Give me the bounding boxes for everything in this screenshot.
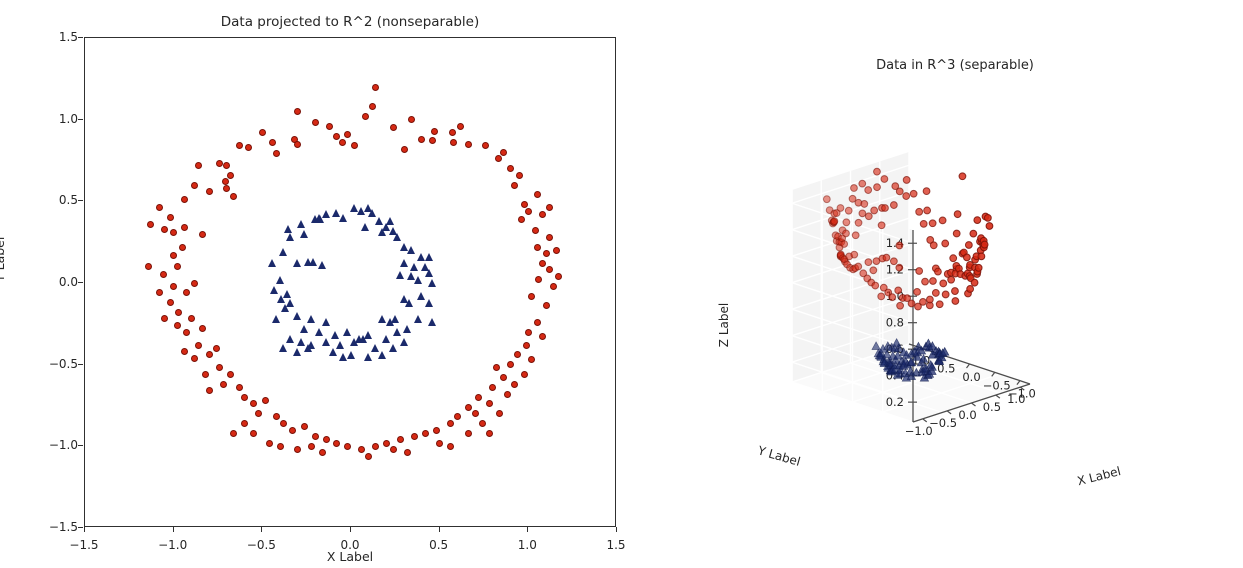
xtick-label: 0.0 [962,370,980,384]
data-point-inner [410,263,418,271]
data-point-inner [368,209,376,217]
data-point-inner [270,286,278,294]
data-point-outer [539,333,546,340]
data-point-outer [525,208,532,215]
data-point-3d-outer [878,222,885,229]
data-point-3d-outer [963,254,970,261]
data-point-outer [528,356,535,363]
data-point-3d-outer [841,241,848,248]
data-point-3d-outer [926,296,933,303]
data-point-outer [227,172,234,179]
data-point-3d-outer [851,251,858,258]
data-point-inner [382,335,390,343]
data-point-outer [202,371,209,378]
data-point-3d-outer [952,288,959,295]
data-point-outer [465,430,472,437]
data-point-3d-outer [843,219,850,226]
data-point-outer [161,226,168,233]
data-point-3d-outer [910,190,917,197]
data-point-outer [489,384,496,391]
ytick-mark [972,403,976,406]
data-point-inner [318,261,326,269]
data-point-outer [479,420,486,427]
data-point-outer [170,283,177,290]
plot-2d-ytick-mark [78,37,83,38]
data-point-outer [167,214,174,221]
data-point-outer [516,172,523,179]
data-point-outer [174,263,181,270]
data-point-outer [383,440,390,447]
data-point-outer [369,103,376,110]
data-point-inner [425,269,433,277]
data-point-inner [322,318,330,326]
data-point-3d-outer [865,213,872,220]
data-point-3d-outer [882,205,889,212]
data-point-3d-outer [922,278,929,285]
data-point-inner [407,246,415,254]
data-point-3d-outer [923,188,930,195]
plot-2d-xtick-mark [439,527,440,532]
plot-2d-ytick-mark [78,527,83,528]
data-point-inner [297,220,305,228]
data-point-outer [183,329,190,336]
data-point-outer [518,216,525,223]
data-point-3d-outer [920,220,927,227]
data-point-inner [293,259,301,267]
data-point-3d-outer [984,214,991,221]
data-point-outer [546,266,553,273]
data-point-inner [315,214,323,222]
data-point-3d-outer [903,193,910,200]
data-point-3d-outer [936,301,943,308]
data-point-outer [546,204,553,211]
plot-2d-ytick: 0.0 [59,275,78,289]
data-point-outer [227,371,234,378]
data-point-inner [304,344,312,352]
plot-3d-ylabel: Y Label [755,443,802,469]
data-point-outer [358,446,365,453]
data-point-3d-outer [845,207,852,214]
data-point-outer [433,427,440,434]
data-point-3d-outer [978,253,985,260]
data-point-3d-outer [974,217,981,224]
data-point-inner [350,204,358,212]
data-point-outer [199,231,206,238]
data-point-3d-outer [874,168,881,175]
data-point-outer [418,136,425,143]
data-point-outer [365,453,372,460]
data-point-3d-outer [935,268,942,275]
data-point-inner [396,271,404,279]
data-point-outer [339,139,346,146]
data-point-3d-outer [852,232,859,239]
data-point-3d-outer [855,263,862,270]
data-point-outer [273,150,280,157]
data-point-outer [195,162,202,169]
data-point-outer [179,244,186,251]
data-point-3d-outer [916,208,923,215]
data-point-inner [389,227,397,235]
data-point-outer [167,299,174,306]
data-point-outer [245,144,252,151]
data-point-outer [191,355,198,362]
plot-2d-ytick-mark [78,282,83,283]
data-point-outer [397,436,404,443]
data-point-3d-outer [890,258,897,265]
data-point-outer [161,315,168,322]
plot-2d-xtick-mark [173,527,174,532]
data-point-inner [293,348,301,356]
data-point-outer [390,446,397,453]
data-point-3d-outer [878,293,885,300]
data-point-outer [294,141,301,148]
data-point-outer [216,160,223,167]
data-point-3d-outer [859,210,866,217]
data-point-outer [312,433,319,440]
plot-3d-canvas: 0.20.40.60.81.01.21.4Z Label−1.0−0.50.00… [700,110,1243,510]
data-point-outer [431,128,438,135]
data-point-outer [447,443,454,450]
data-point-inner [272,315,280,323]
data-point-3d-outer [890,202,897,209]
data-point-outer [535,276,542,283]
data-point-outer [255,410,262,417]
data-point-outer [191,280,198,287]
data-point-3d-outer [914,288,921,295]
data-point-inner [279,248,287,256]
data-point-3d-outer [823,196,830,203]
data-point-outer [236,384,243,391]
figure-canvas: Data projected to R^2 (nonseparable) −1.… [0,0,1243,568]
data-point-3d-outer [895,287,902,294]
data-point-outer [181,196,188,203]
data-point-3d-outer [908,300,915,307]
data-point-outer [289,427,296,434]
data-point-outer [532,227,539,234]
data-point-inner [428,318,436,326]
data-point-outer [534,319,541,326]
data-point-outer [262,397,269,404]
data-point-inner [343,328,351,336]
data-point-outer [160,271,167,278]
data-point-3d-outer [903,177,910,184]
data-point-outer [280,420,287,427]
data-point-3d-outer [930,242,937,249]
data-point-3d-outer [859,180,866,187]
data-point-3d-outer [967,286,974,293]
data-point-inner [339,214,347,222]
data-point-inner [286,233,294,241]
data-point-outer [511,182,518,189]
data-point-3d-outer [959,173,966,180]
data-point-outer [319,449,326,456]
data-point-inner [277,295,285,303]
data-point-outer [250,400,257,407]
data-point-outer [294,446,301,453]
data-point-outer [236,142,243,149]
data-point-outer [450,139,457,146]
data-point-inner [322,338,330,346]
data-point-outer [546,234,553,241]
data-point-inner [350,338,358,346]
data-point-3d-outer [942,291,949,298]
data-point-outer [294,108,301,115]
data-point-outer [514,351,521,358]
data-point-inner [331,331,339,339]
data-point-outer [344,443,351,450]
data-point-outer [308,443,315,450]
data-point-inner [300,230,308,238]
data-point-outer [174,322,181,329]
plot-2d-ytick: 1.5 [59,30,78,44]
data-point-outer [223,162,230,169]
data-point-outer [323,436,330,443]
data-point-outer [312,119,319,126]
data-point-inner [405,299,413,307]
data-point-outer [504,391,511,398]
data-point-3d-outer [897,302,904,309]
data-point-outer [457,123,464,130]
data-point-outer [206,387,213,394]
data-point-outer [147,221,154,228]
data-point-outer [447,420,454,427]
data-point-3d-outer [837,205,844,212]
data-point-outer [534,191,541,198]
data-point-inner [339,353,347,361]
data-point-outer [496,410,503,417]
data-point-outer [411,433,418,440]
data-point-outer [493,364,500,371]
data-point-inner [309,258,317,266]
data-point-inner [281,304,289,312]
data-point-outer [550,283,557,290]
data-point-outer [344,131,351,138]
data-point-outer [539,260,546,267]
ytick-label: 0.5 [983,400,1001,414]
data-point-inner [364,353,372,361]
data-point-outer [482,142,489,149]
data-point-outer [539,211,546,218]
data-point-outer [301,423,308,430]
plot-2d-xtick-mark [350,527,351,532]
data-point-inner [268,259,276,267]
data-point-3d-outer [843,230,850,237]
data-point-3d-outer [942,240,949,247]
data-point-3d-outer [883,254,890,261]
plot-3d-axes: 0.20.40.60.81.01.21.4Z Label−1.0−0.50.00… [700,110,1243,510]
data-point-outer [500,149,507,156]
data-point-outer [223,185,230,192]
plot-2d-axes [84,37,616,527]
data-point-outer [156,204,163,211]
data-point-3d-outer [971,279,978,286]
data-point-outer [170,252,177,259]
data-point-3d-outer [865,187,872,194]
ytick-label: −0.5 [929,416,957,430]
data-point-outer [259,129,266,136]
data-point-inner [425,253,433,261]
data-point-outer [449,129,456,136]
data-point-outer [199,325,206,332]
data-point-outer [500,374,507,381]
data-point-inner [414,276,422,284]
data-point-3d-outer [954,211,961,218]
plot-2d-data-area [85,38,615,526]
data-point-inner [378,351,386,359]
plot-2d-ytick: −1.5 [49,520,78,534]
ytick-mark [996,395,1000,398]
data-point-inner [389,344,397,352]
data-point-outer [454,413,461,420]
data-point-3d-outer [948,276,955,283]
ytick-mark [947,411,951,414]
data-point-outer [372,84,379,91]
plot-2d-ytick: 0.5 [59,193,78,207]
plot-3d-title: Data in R^3 (separable) [790,58,1120,73]
data-point-outer [145,263,152,270]
data-point-outer [195,342,202,349]
plot-2d-title: Data projected to R^2 (nonseparable) [84,14,616,30]
data-point-outer [408,116,415,123]
ytick-mark [923,419,927,422]
plot-2d-xtick-mark [84,527,85,532]
data-point-outer [534,244,541,251]
data-point-inner [286,335,294,343]
data-point-3d-outer [870,267,877,274]
data-point-outer [390,124,397,131]
data-point-inner [293,312,301,320]
data-point-inner [300,325,308,333]
plot-2d-x-ticklabels: −1.5−1.0−0.50.00.51.01.5 [84,532,616,550]
data-point-3d-outer [855,219,862,226]
data-point-inner [425,299,433,307]
data-point-outer [422,430,429,437]
data-point-3d-outer [896,188,903,195]
xtick-label: −0.5 [983,378,1011,392]
plot-3d-zlabel: Z Label [717,303,731,347]
data-point-inner [276,276,284,284]
plot-2d-xlabel: X Label [84,549,616,564]
data-point-inner [361,223,369,231]
data-point-3d-outer [981,241,988,248]
plot-2d-ytick: 1.0 [59,112,78,126]
data-point-outer [170,229,177,236]
ytick-label: 0.0 [958,408,976,422]
plot-2d-y-ticklabels: −1.5−1.0−0.50.00.51.01.5 [22,37,78,527]
plot-3d-xlabel: X Label [1076,464,1122,488]
data-point-outer [401,146,408,153]
data-point-outer [472,410,479,417]
data-point-outer [216,364,223,371]
data-point-outer [333,440,340,447]
data-point-inner [284,225,292,233]
data-point-3d-outer [920,298,927,305]
data-point-3d-outer [929,220,936,227]
data-point-outer [250,430,257,437]
data-point-outer [273,413,280,420]
data-point-3d-outer [896,264,903,271]
data-point-inner [391,315,399,323]
data-point-inner [403,325,411,333]
plot-2d-ytick-mark [78,445,83,446]
data-point-3d-outer [916,268,923,275]
data-point-outer [486,400,493,407]
data-point-outer [543,250,550,257]
data-point-outer [523,342,530,349]
data-point-3d-outer [975,264,982,271]
ztick-label: 0.2 [886,395,904,409]
data-point-outer [465,404,472,411]
plot-2d-ytick-mark [78,200,83,201]
data-point-outer [277,443,284,450]
data-point-inner [359,335,367,343]
data-point-3d-outer [861,201,868,208]
data-point-outer [220,381,227,388]
plot-2d-ytick-mark [78,364,83,365]
data-point-inner [414,315,422,323]
data-point-outer [362,113,369,120]
data-point-3d-outer [831,218,838,225]
data-point-3d-outer [953,230,960,237]
data-point-outer [553,247,560,254]
data-point-outer [230,430,237,437]
data-point-outer [266,440,273,447]
data-point-outer [351,142,358,149]
data-point-3d-outer [874,184,881,191]
data-point-inner [400,338,408,346]
data-point-3d-outer [871,207,878,214]
data-point-inner [279,344,287,352]
data-point-3d-outer [896,242,903,249]
data-point-3d-outer [932,290,939,297]
data-point-3d-outer [924,207,931,214]
data-point-outer [188,315,195,322]
data-point-outer [156,289,163,296]
data-point-inner [307,315,315,323]
data-point-inner [400,259,408,267]
data-point-3d-outer [950,255,957,262]
data-point-outer [175,309,182,316]
plot-2d-xtick-mark [261,527,262,532]
plot-2d-xtick-mark [527,527,528,532]
data-point-3d-outer [986,223,993,230]
data-point-3d-outer [952,298,959,305]
data-point-inner [336,341,344,349]
data-point-3d-outer [970,230,977,237]
data-point-inner [347,351,355,359]
data-point-3d-outer [965,242,972,249]
plot-2d-xtick-mark [616,527,617,532]
data-point-3d-outer [889,294,896,301]
data-point-outer [191,182,198,189]
data-point-outer [206,188,213,195]
data-point-inner [329,348,337,356]
data-point-3d-outer [930,278,937,285]
data-point-outer [206,351,213,358]
data-point-outer [465,141,472,148]
data-point-outer [404,449,411,456]
data-point-outer [429,137,436,144]
data-point-3d-outer [881,176,888,183]
data-point-inner [393,328,401,336]
data-point-outer [213,345,220,352]
data-point-3d-outer [865,259,872,266]
ztick-label: 0.8 [886,316,904,330]
data-point-outer [507,361,514,368]
data-point-outer [241,394,248,401]
data-point-outer [495,155,502,162]
data-point-outer [230,193,237,200]
